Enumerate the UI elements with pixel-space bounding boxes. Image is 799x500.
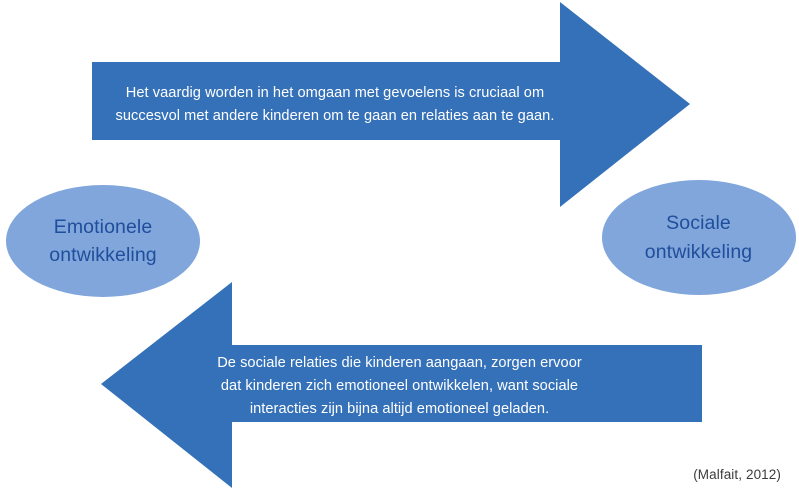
diagram-canvas: Het vaardig worden in het omgaan met gev… (0, 0, 799, 500)
ellipse-emotionele-ontwikkeling (6, 185, 200, 297)
diagram-shapes-layer (0, 0, 799, 500)
citation-text: (Malfait, 2012) (693, 467, 781, 482)
arrow-top-shape (92, 2, 690, 207)
arrow-bottom-shape (101, 282, 702, 488)
ellipse-sociale-ontwikkeling (602, 180, 796, 295)
